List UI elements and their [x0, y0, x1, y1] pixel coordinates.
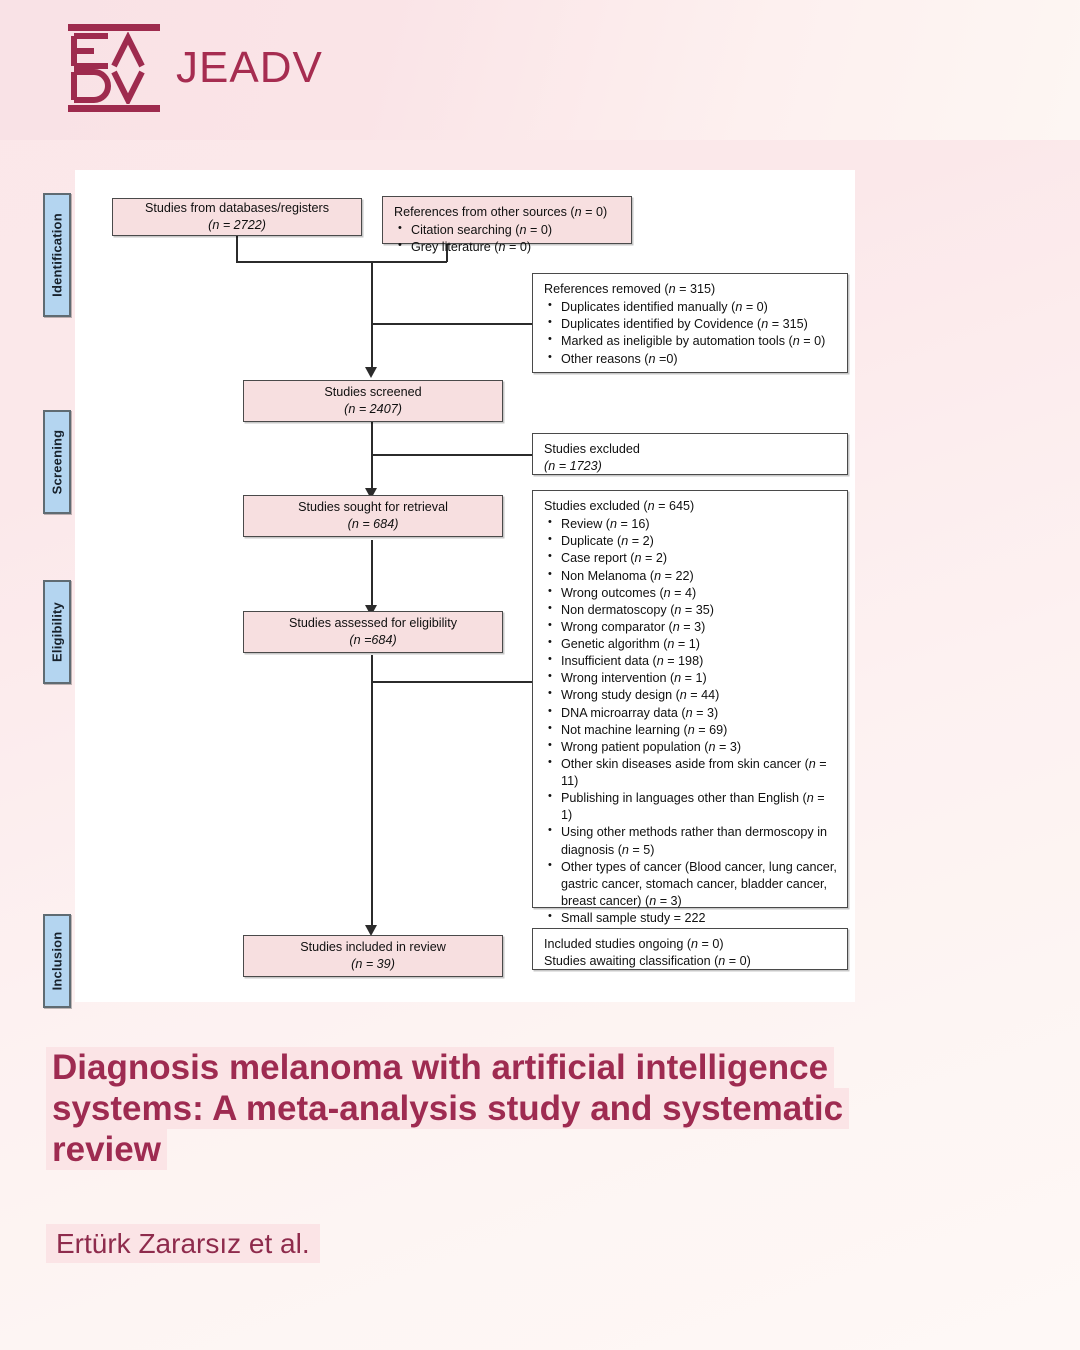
article-authors: Ertürk Zararsız et al. — [46, 1228, 320, 1260]
box-heading: References from other sources (n = 0) — [394, 204, 622, 221]
connector-othersources-left — [372, 261, 447, 263]
stage-label-eligibility: Eligibility — [43, 580, 71, 684]
list-item: Genetic algorithm (n = 1) — [544, 636, 838, 653]
list-item: Not machine learning (n = 69) — [544, 722, 838, 739]
list-item: Duplicates identified by Covidence (n = … — [544, 316, 838, 333]
connector-main-to-screened — [371, 261, 373, 369]
article-title-text: Diagnosis melanoma with artificial intel… — [46, 1047, 849, 1170]
connector-to-excluded-screening — [371, 454, 533, 456]
list-item: Wrong outcomes (n = 4) — [544, 585, 838, 602]
stage-label-screening: Screening — [43, 410, 71, 514]
connector-sought-to-assessed — [371, 540, 373, 607]
box-studies-excluded-screening: Studies excluded (n = 1723) — [532, 433, 848, 475]
box-heading: References removed (n = 315) — [544, 281, 838, 298]
list-item: Other reasons (n =0) — [544, 351, 838, 368]
box-ongoing-awaiting: Included studies ongoing (n = 0) Studies… — [532, 928, 848, 970]
eadv-logo-mark-icon — [68, 24, 160, 112]
box-line-2: (n = 684) — [348, 516, 399, 533]
box-line-2: (n = 1723) — [544, 458, 838, 475]
stage-text: Inclusion — [50, 932, 65, 991]
box-heading: Studies excluded (n = 645) — [544, 498, 838, 515]
box-line-1: Studies sought for retrieval — [298, 499, 448, 516]
box-studies-screened: Studies screened (n = 2407) — [243, 380, 503, 422]
list-item: Grey literature (n = 0) — [394, 239, 622, 256]
list-item: Using other methods rather than dermosco… — [544, 824, 838, 858]
connector-databases-right — [236, 261, 372, 263]
list-item: Duplicate (n = 2) — [544, 533, 838, 550]
list-item: Insufficient data (n = 198) — [544, 653, 838, 670]
box-line-1: Included studies ongoing (n = 0) — [544, 936, 838, 953]
box-studies-assessed-eligibility: Studies assessed for eligibility (n =684… — [243, 611, 503, 653]
list-item: Case report (n = 2) — [544, 550, 838, 567]
list-item: Wrong patient population (n = 3) — [544, 739, 838, 756]
box-line-2: (n = 2407) — [344, 401, 402, 418]
connector-assessed-to-included — [371, 655, 373, 927]
box-studies-from-databases: Studies from databases/registers (n = 27… — [112, 198, 362, 236]
box-studies-included-review: Studies included in review (n = 39) — [243, 935, 503, 977]
connector-screened-to-sought — [371, 422, 373, 490]
list-item: Marked as ineligible by automation tools… — [544, 333, 838, 350]
box-line-2: (n =684) — [349, 632, 396, 649]
list-item: Small sample study = 222 — [544, 910, 838, 927]
box-line-1: Studies excluded — [544, 441, 838, 458]
box-references-removed: References removed (n = 315) Duplicates … — [532, 273, 848, 373]
list-item: Review (n = 16) — [544, 516, 838, 533]
box-line-2: Studies awaiting classification (n = 0) — [544, 953, 838, 970]
article-authors-text: Ertürk Zararsız et al. — [46, 1224, 320, 1263]
list-item: Non Melanoma (n = 22) — [544, 568, 838, 585]
stage-label-inclusion: Inclusion — [43, 914, 71, 1008]
box-line-1: Studies screened — [324, 384, 421, 401]
box-studies-excluded-eligibility: Studies excluded (n = 645) Review (n = 1… — [532, 490, 848, 908]
box-line-1: Studies included in review — [300, 939, 446, 956]
list-item: Non dermatoscopy (n = 35) — [544, 602, 838, 619]
connector-databases-down — [236, 236, 238, 262]
journal-logo: JEADV — [68, 24, 323, 112]
poster-page: JEADV Identification Screening Eligibili… — [0, 0, 1080, 1350]
article-title: Diagnosis melanoma with artificial intel… — [46, 1048, 876, 1171]
box-line-2: (n = 39) — [351, 956, 395, 973]
list-item: Publishing in languages other than Engli… — [544, 790, 838, 824]
box-line-2: (n = 2722) — [208, 217, 266, 234]
arrow-to-screened — [365, 367, 377, 378]
list-item: DNA microarray data (n = 3) — [544, 705, 838, 722]
list-item: Other skin diseases aside from skin canc… — [544, 756, 838, 790]
stage-text: Identification — [50, 213, 65, 297]
stage-label-identification: Identification — [43, 193, 71, 317]
connector-to-references-removed — [371, 323, 533, 325]
journal-wordmark: JEADV — [176, 43, 323, 93]
box-studies-sought-retrieval: Studies sought for retrieval (n = 684) — [243, 495, 503, 537]
stage-text: Screening — [50, 430, 65, 495]
box-line-1: Studies assessed for eligibility — [289, 615, 457, 632]
prisma-flow-diagram: Identification Screening Eligibility Inc… — [75, 170, 855, 1002]
list-item: Wrong comparator (n = 3) — [544, 619, 838, 636]
list-item: Other types of cancer (Blood cancer, lun… — [544, 859, 838, 910]
list-item: Duplicates identified manually (n = 0) — [544, 299, 838, 316]
header-band: JEADV — [0, 0, 1080, 140]
list-item: Citation searching (n = 0) — [394, 222, 622, 239]
list-item: Wrong study design (n = 44) — [544, 687, 838, 704]
list-item: Wrong intervention (n = 1) — [544, 670, 838, 687]
box-line-1: Studies from databases/registers — [145, 200, 329, 217]
box-references-other-sources: References from other sources (n = 0) Ci… — [382, 196, 632, 244]
connector-to-excluded-eligibility — [371, 681, 533, 683]
stage-text: Eligibility — [50, 602, 65, 662]
